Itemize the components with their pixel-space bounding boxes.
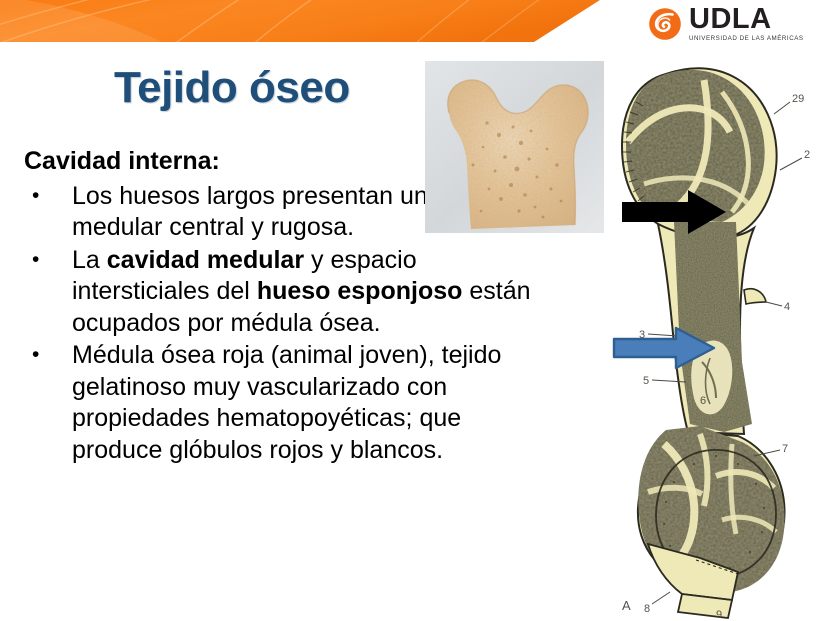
bullet-emphasis: hueso esponjoso [257,277,463,305]
header-orange-shape [0,0,600,42]
page-title: Tejido óseo [114,63,350,113]
logo-tagline: UNIVERSIDAD DE LAS AMÉRICAS [689,36,804,42]
bullet-span: La [72,246,107,274]
bullet-marker-icon: • [24,181,72,211]
udla-logo: UDLA UNIVERSIDAD DE LAS AMÉRICAS [648,4,820,44]
figure-label-5: 5 [643,375,649,387]
bullet-marker-icon: • [24,340,72,370]
logo-wordmark: UDLA [689,6,804,34]
figure-label-6: 6 [700,395,706,407]
figure-label-8: 8 [644,603,650,615]
figure-label-2: 2 [804,149,810,161]
bullet-marker-icon: • [24,245,72,275]
figure-label-7: 7 [782,443,788,455]
figure-label-29: 29 [792,93,804,105]
figure-label-4: 4 [784,301,790,313]
figure-label-9: 9 [716,609,722,621]
bullet-item: •Médula ósea roja (animal joven), tejido… [24,340,554,466]
udla-swoosh-icon [648,7,682,41]
bullet-span: Médula ósea roja (animal joven), tejido … [72,341,501,464]
bullet-emphasis: cavidad medular [107,246,304,274]
bullet-item: •La cavidad medular y espacio interstici… [24,245,554,340]
bullet-text: La cavidad medular y espacio intersticia… [72,245,554,340]
bullet-text: Médula ósea roja (animal joven), tejido … [72,340,554,466]
black-pointer-arrow [622,190,726,234]
blue-pointer-arrow [612,325,716,371]
spongy-bone-photo [425,61,613,233]
figure-plate-letter: A [622,598,631,613]
